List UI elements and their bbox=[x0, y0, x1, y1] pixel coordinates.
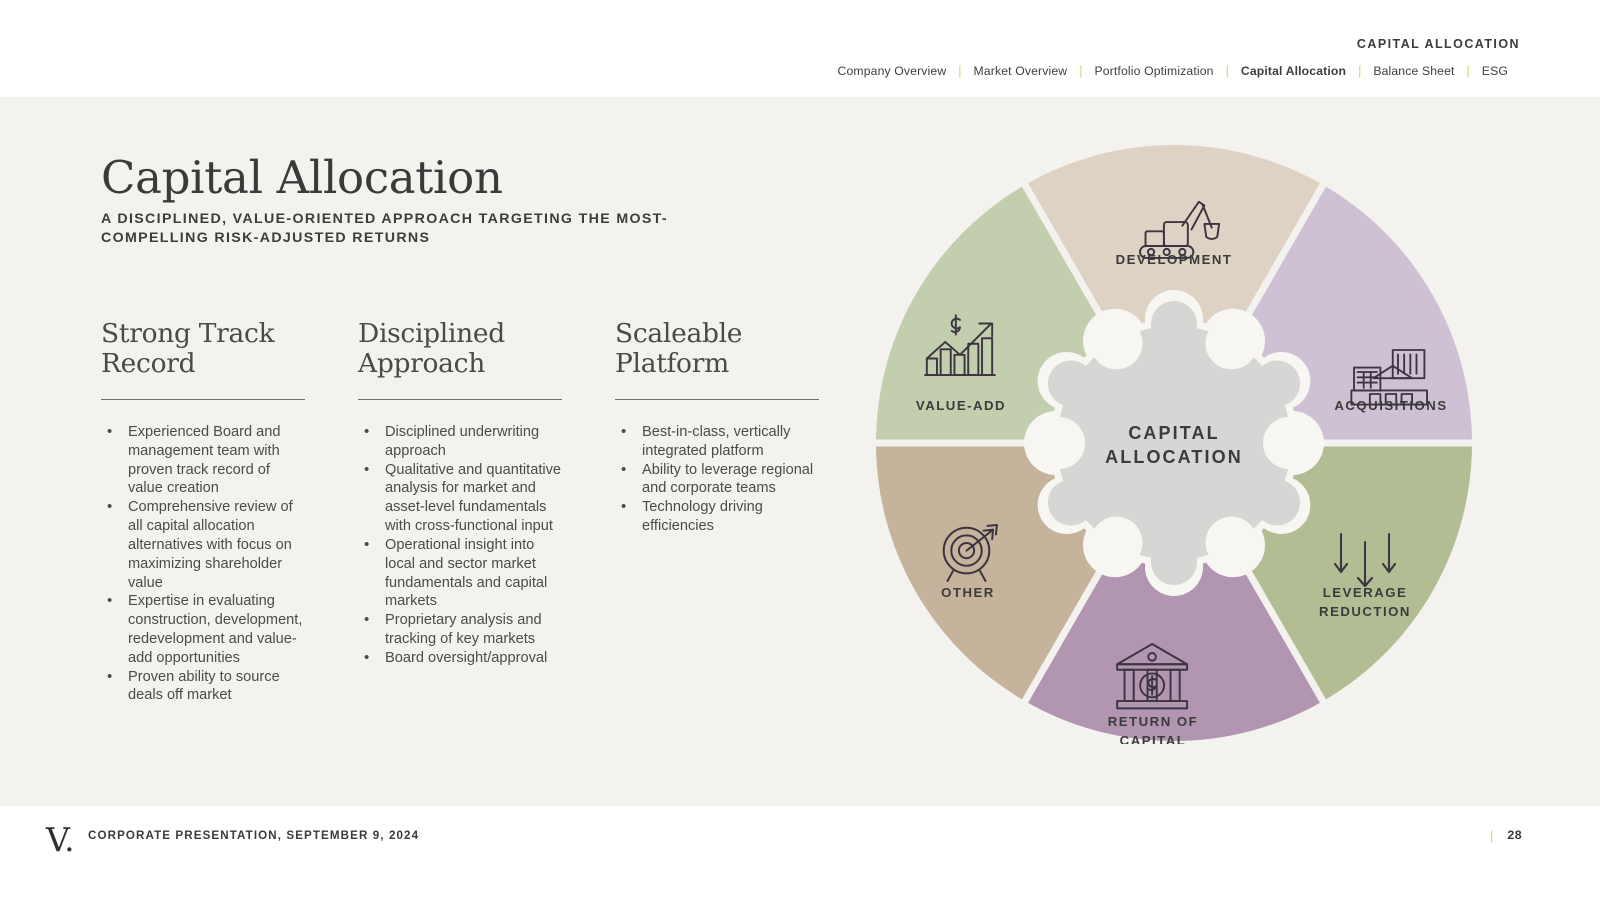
column-divider bbox=[101, 399, 305, 400]
column-heading: Strong Track Record bbox=[101, 319, 305, 381]
segment-label-other: OTHER bbox=[941, 585, 995, 600]
footer-presentation-label: CORPORATE PRESENTATION, SEPTEMBER 9, 202… bbox=[88, 829, 419, 842]
list-item: Operational insight into local and secto… bbox=[358, 536, 562, 611]
segment-label-leverage-reduction-line2: REDUCTION bbox=[1319, 604, 1411, 619]
company-logo: V. bbox=[46, 823, 75, 856]
list-item: Technology driving efficiencies bbox=[615, 498, 819, 536]
segment-label-value-add: VALUE-ADD bbox=[916, 398, 1006, 413]
page-number: 28 bbox=[1507, 828, 1522, 842]
column-heading: Disciplined Approach bbox=[358, 319, 562, 381]
slide-body: Capital Allocation A DISCIPLINED, VALUE-… bbox=[0, 97, 1600, 806]
segment-label-development: DEVELOPMENT bbox=[1116, 252, 1233, 267]
column-divider bbox=[358, 399, 562, 400]
segment-label-acquisitions: ACQUISITIONS bbox=[1334, 398, 1447, 413]
wheel-center-label-line1: CAPITAL bbox=[1128, 423, 1219, 443]
column-scaleable-platform: Scaleable Platform Best-in-class, vertic… bbox=[615, 319, 819, 705]
nav-item-portfolio-optimization[interactable]: Portfolio Optimization bbox=[1082, 64, 1225, 78]
slide-footer: V. CORPORATE PRESENTATION, SEPTEMBER 9, … bbox=[0, 806, 1600, 899]
capital-allocation-wheel: CAPITAL ALLOCATION DEVELOPMENT bbox=[873, 142, 1475, 744]
list-item: Experienced Board and management team wi… bbox=[101, 423, 305, 498]
page-title: Capital Allocation bbox=[101, 151, 503, 204]
list-item: Comprehensive review of all capital allo… bbox=[101, 498, 305, 592]
nav-item-balance-sheet[interactable]: Balance Sheet bbox=[1361, 64, 1466, 78]
segment-label-return-of-capital: RETURN OF bbox=[1108, 714, 1198, 729]
page-subtitle: A DISCIPLINED, VALUE-ORIENTED APPROACH T… bbox=[101, 210, 741, 247]
column-strong-track-record: Strong Track Record Experienced Board an… bbox=[101, 319, 305, 705]
list-item: Best-in-class, vertically integrated pla… bbox=[615, 423, 819, 461]
column-bullet-list: Experienced Board and management team wi… bbox=[101, 423, 305, 705]
footer-separator: | bbox=[1490, 829, 1493, 842]
list-item: Proprietary analysis and tracking of key… bbox=[358, 611, 562, 649]
list-item: Disciplined underwriting approach bbox=[358, 423, 562, 461]
column-disciplined-approach: Disciplined Approach Disciplined underwr… bbox=[358, 319, 562, 705]
nav-item-capital-allocation[interactable]: Capital Allocation bbox=[1229, 64, 1358, 78]
list-item: Board oversight/approval bbox=[358, 649, 562, 668]
pillars-columns: Strong Track Record Experienced Board an… bbox=[101, 319, 831, 705]
list-item: Proven ability to source deals off marke… bbox=[101, 668, 305, 706]
column-bullet-list: Disciplined underwriting approach Qualit… bbox=[358, 423, 562, 668]
wheel-center-label-line2: ALLOCATION bbox=[1105, 447, 1243, 467]
segment-label-leverage-reduction: LEVERAGE bbox=[1323, 585, 1408, 600]
column-divider bbox=[615, 399, 819, 400]
list-item: Qualitative and quantitative analysis fo… bbox=[358, 461, 562, 536]
column-bullet-list: Best-in-class, vertically integrated pla… bbox=[615, 423, 819, 536]
nav-item-company-overview[interactable]: Company Overview bbox=[826, 64, 959, 78]
nav-item-esg[interactable]: ESG bbox=[1470, 64, 1520, 78]
wheel-svg: CAPITAL ALLOCATION DEVELOPMENT bbox=[873, 142, 1475, 744]
segment-label-return-of-capital-line2: CAPITAL bbox=[1120, 733, 1187, 744]
column-heading: Scaleable Platform bbox=[615, 319, 819, 381]
header-eyebrow: CAPITAL ALLOCATION bbox=[1357, 37, 1520, 51]
nav-item-market-overview[interactable]: Market Overview bbox=[962, 64, 1080, 78]
list-item: Ability to leverage regional and corpora… bbox=[615, 461, 819, 499]
section-nav[interactable]: Company Overview | Market Overview | Por… bbox=[826, 64, 1520, 78]
top-header: CAPITAL ALLOCATION Company Overview | Ma… bbox=[0, 0, 1600, 97]
footer-page-indicator: | 28 bbox=[1490, 828, 1522, 842]
list-item: Expertise in evaluating construction, de… bbox=[101, 592, 305, 667]
